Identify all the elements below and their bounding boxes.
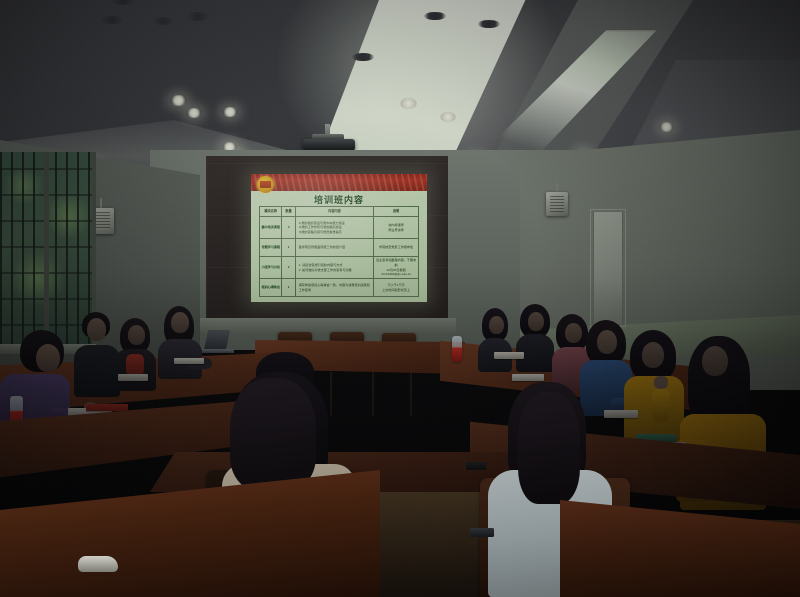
- row-content: 医学院及附属医院党工作的经介绍: [295, 239, 373, 257]
- arm-raised: [652, 388, 670, 422]
- notebook[interactable]: [174, 358, 204, 364]
- row-module: 集中培训课程: [260, 217, 282, 239]
- table-row: 集中培训课程 3 1)党的组织建设与党中央能力建设 2)党的工作作风与党的组织建…: [260, 217, 419, 239]
- water-bottle[interactable]: [452, 336, 462, 362]
- notebook[interactable]: [494, 352, 524, 359]
- slide-banner-texture: [251, 174, 427, 191]
- row-count: 3: [282, 217, 295, 239]
- laptop-base[interactable]: [202, 349, 234, 353]
- row-module: 专题学习课程: [260, 239, 282, 257]
- head: [528, 312, 544, 331]
- table-row: 小组学习讨论 2 1. 请结合思想引领的内容与方式 2. 如何做好对党支部工作的…: [260, 257, 419, 279]
- slide-col-module: 模块名称: [260, 207, 282, 217]
- mobile-phone[interactable]: [470, 528, 494, 537]
- head: [489, 316, 504, 334]
- table-leg: [330, 372, 332, 416]
- slide-title: 培训班内容: [251, 193, 427, 206]
- row-module: 小组学习讨论: [260, 257, 282, 279]
- slide-col-count: 数量: [282, 207, 295, 217]
- notebook[interactable]: [118, 374, 148, 381]
- head: [171, 312, 189, 333]
- slide-banner: [251, 174, 427, 191]
- red-scarf: [126, 354, 144, 376]
- conference-table-foreground-right: [560, 500, 800, 597]
- head: [642, 342, 664, 368]
- row-note: 自主思考和整理内容，于期末前 12月25日截稿 zhzh3300@fju.edu…: [374, 257, 419, 279]
- downlight-icon: [152, 17, 174, 25]
- table-row: 培训心得体会 1 填写参加培训心得体会一篇，内容为感想培训感受和工作思考 不少于…: [260, 279, 419, 297]
- row-count: 1: [282, 239, 295, 257]
- downlight-icon: [186, 108, 202, 118]
- row-count: 1: [282, 279, 295, 297]
- downlight-icon: [478, 20, 500, 28]
- table-leg: [372, 372, 374, 416]
- notebook[interactable]: [512, 374, 544, 381]
- head: [87, 318, 106, 341]
- row-note: 不少于1千字 上交时间和形式另上: [374, 279, 419, 297]
- torso: [74, 345, 120, 397]
- downlight-icon: [440, 112, 456, 122]
- wall-speaker-right: [546, 192, 568, 216]
- mobile-phone[interactable]: [466, 462, 486, 470]
- row-module: 培训心得体会: [260, 279, 282, 297]
- downlight-icon: [170, 95, 187, 106]
- door[interactable]: [593, 212, 623, 324]
- notebook-red[interactable]: [86, 404, 128, 411]
- head: [36, 344, 60, 372]
- row-content: 1. 请结合思想引领的内容与方式 2. 如何做好对党支部工作的思考与对策: [295, 257, 373, 279]
- stage-base: [200, 318, 456, 334]
- row-content: 填写参加培训心得体会一篇，内容为感想培训感受和工作思考: [295, 279, 373, 297]
- row-count: 2: [282, 257, 295, 279]
- slide-table-header-row: 模块名称 数量 内容内容 说明: [260, 207, 419, 217]
- downlight-icon: [100, 16, 124, 24]
- laptop-screen: [204, 330, 230, 350]
- head: [597, 330, 617, 354]
- table-leg: [410, 372, 412, 416]
- slide-table: 模块名称 数量 内容内容 说明 集中培训课程 3 1)党的组织建设与党中央能力建…: [259, 206, 419, 297]
- slide-col-note: 说明: [374, 207, 419, 217]
- table-row: 专题学习课程 1 医学院及附属医院党工作的经介绍 学院统安党务工作者参加: [260, 239, 419, 257]
- shoe: [78, 556, 118, 572]
- slide-col-content: 内容内容: [295, 207, 373, 217]
- emblem-inner: [260, 181, 271, 188]
- notebook[interactable]: [604, 410, 638, 418]
- head: [128, 325, 145, 345]
- speaker-grill-icon: [550, 196, 564, 212]
- projection-screen: 培训班内容 模块名称 数量 内容内容 说明 集中培训课程 3 1)党的组织建设与…: [251, 174, 427, 302]
- hair-front: [518, 392, 580, 504]
- downlight-icon: [186, 12, 210, 21]
- downlight-icon: [400, 98, 417, 109]
- row-content: 1)党的组织建设与党中央能力建设 2)党的工作作风与党的组织建设 3)党的思路引…: [295, 217, 373, 239]
- downlight-icon: [659, 122, 674, 132]
- head: [702, 346, 728, 376]
- hand: [654, 376, 668, 389]
- row-note: 校内授课师 聘业界讲师: [374, 217, 419, 239]
- hair-long-front: [230, 378, 316, 490]
- row-note: 学院统安党务工作者参加: [374, 239, 419, 257]
- party-emblem-icon: [257, 176, 274, 193]
- downlight-icon: [424, 12, 446, 20]
- window-mullion: [44, 152, 49, 352]
- row-note-text: 自主思考和整理内容，于期末前 12月25日截稿 zhzh3300@fju.edu…: [376, 258, 416, 276]
- downlight-icon: [352, 53, 374, 61]
- head: [565, 323, 582, 343]
- downlight-icon: [222, 107, 238, 117]
- meeting-room-photo: 培训班内容 模块名称 数量 内容内容 说明 集中培训课程 3 1)党的组织建设与…: [0, 0, 800, 597]
